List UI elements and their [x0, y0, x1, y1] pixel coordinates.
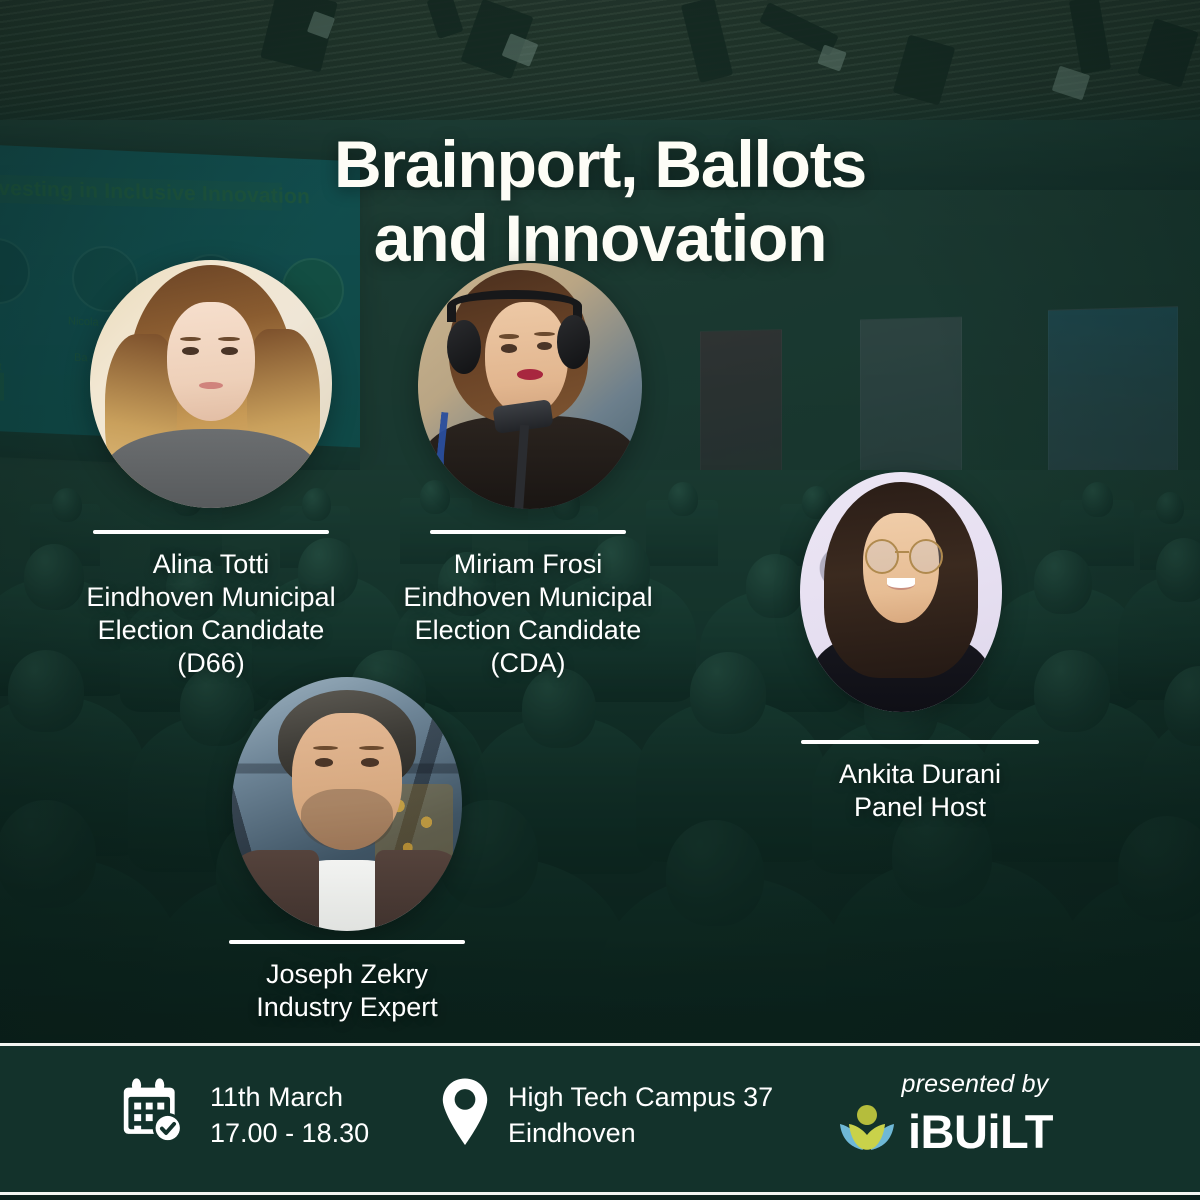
presented-by-label: presented by — [860, 1070, 1090, 1099]
caption-rule — [430, 530, 626, 534]
avatar — [90, 260, 332, 508]
sdg-pin-icon — [390, 900, 416, 926]
speaker-name-and-role: Miriam Frosi Eindhoven Municipal Electio… — [380, 548, 676, 680]
footer-bottom-divider — [0, 1192, 1200, 1195]
event-date-block: 11th March 17.00 - 18.30 — [118, 1076, 369, 1155]
speaker-name-and-role: Alina Totti Eindhoven Municipal Election… — [70, 548, 352, 680]
page-title: Brainport, Ballots and Innovation — [0, 128, 1200, 276]
caption-rule — [801, 740, 1039, 744]
event-location-block: High Tech Campus 37 Eindhoven — [440, 1076, 773, 1155]
speaker-name-and-role: Joseph Zekry Industry Expert — [225, 958, 469, 1024]
speaker-caption: Ankita Durani Panel Host — [800, 740, 1040, 824]
event-poster: el: Investing in Inclusive Innovation To… — [0, 0, 1200, 1200]
map-pin-icon — [440, 1076, 490, 1155]
avatar — [232, 677, 462, 931]
ibuilt-wordmark: iBUiLT — [908, 1104, 1053, 1159]
ibuilt-person-icon — [836, 1104, 898, 1159]
caption-rule — [93, 530, 329, 534]
calendar-check-icon — [118, 1076, 192, 1155]
caption-rule — [229, 940, 465, 944]
avatar — [800, 472, 1002, 712]
event-date-text: 11th March 17.00 - 18.30 — [210, 1080, 369, 1150]
speaker-caption: Joseph Zekry Industry Expert — [225, 940, 469, 1024]
speaker-caption: Miriam Frosi Eindhoven Municipal Electio… — [380, 530, 676, 680]
sponsor-logo: iBUiLT — [836, 1104, 1116, 1159]
event-location-text: High Tech Campus 37 Eindhoven — [508, 1080, 773, 1150]
speaker-name-and-role: Ankita Durani Panel Host — [800, 758, 1040, 824]
speaker-caption: Alina Totti Eindhoven Municipal Election… — [70, 530, 352, 680]
avatar — [418, 263, 642, 509]
